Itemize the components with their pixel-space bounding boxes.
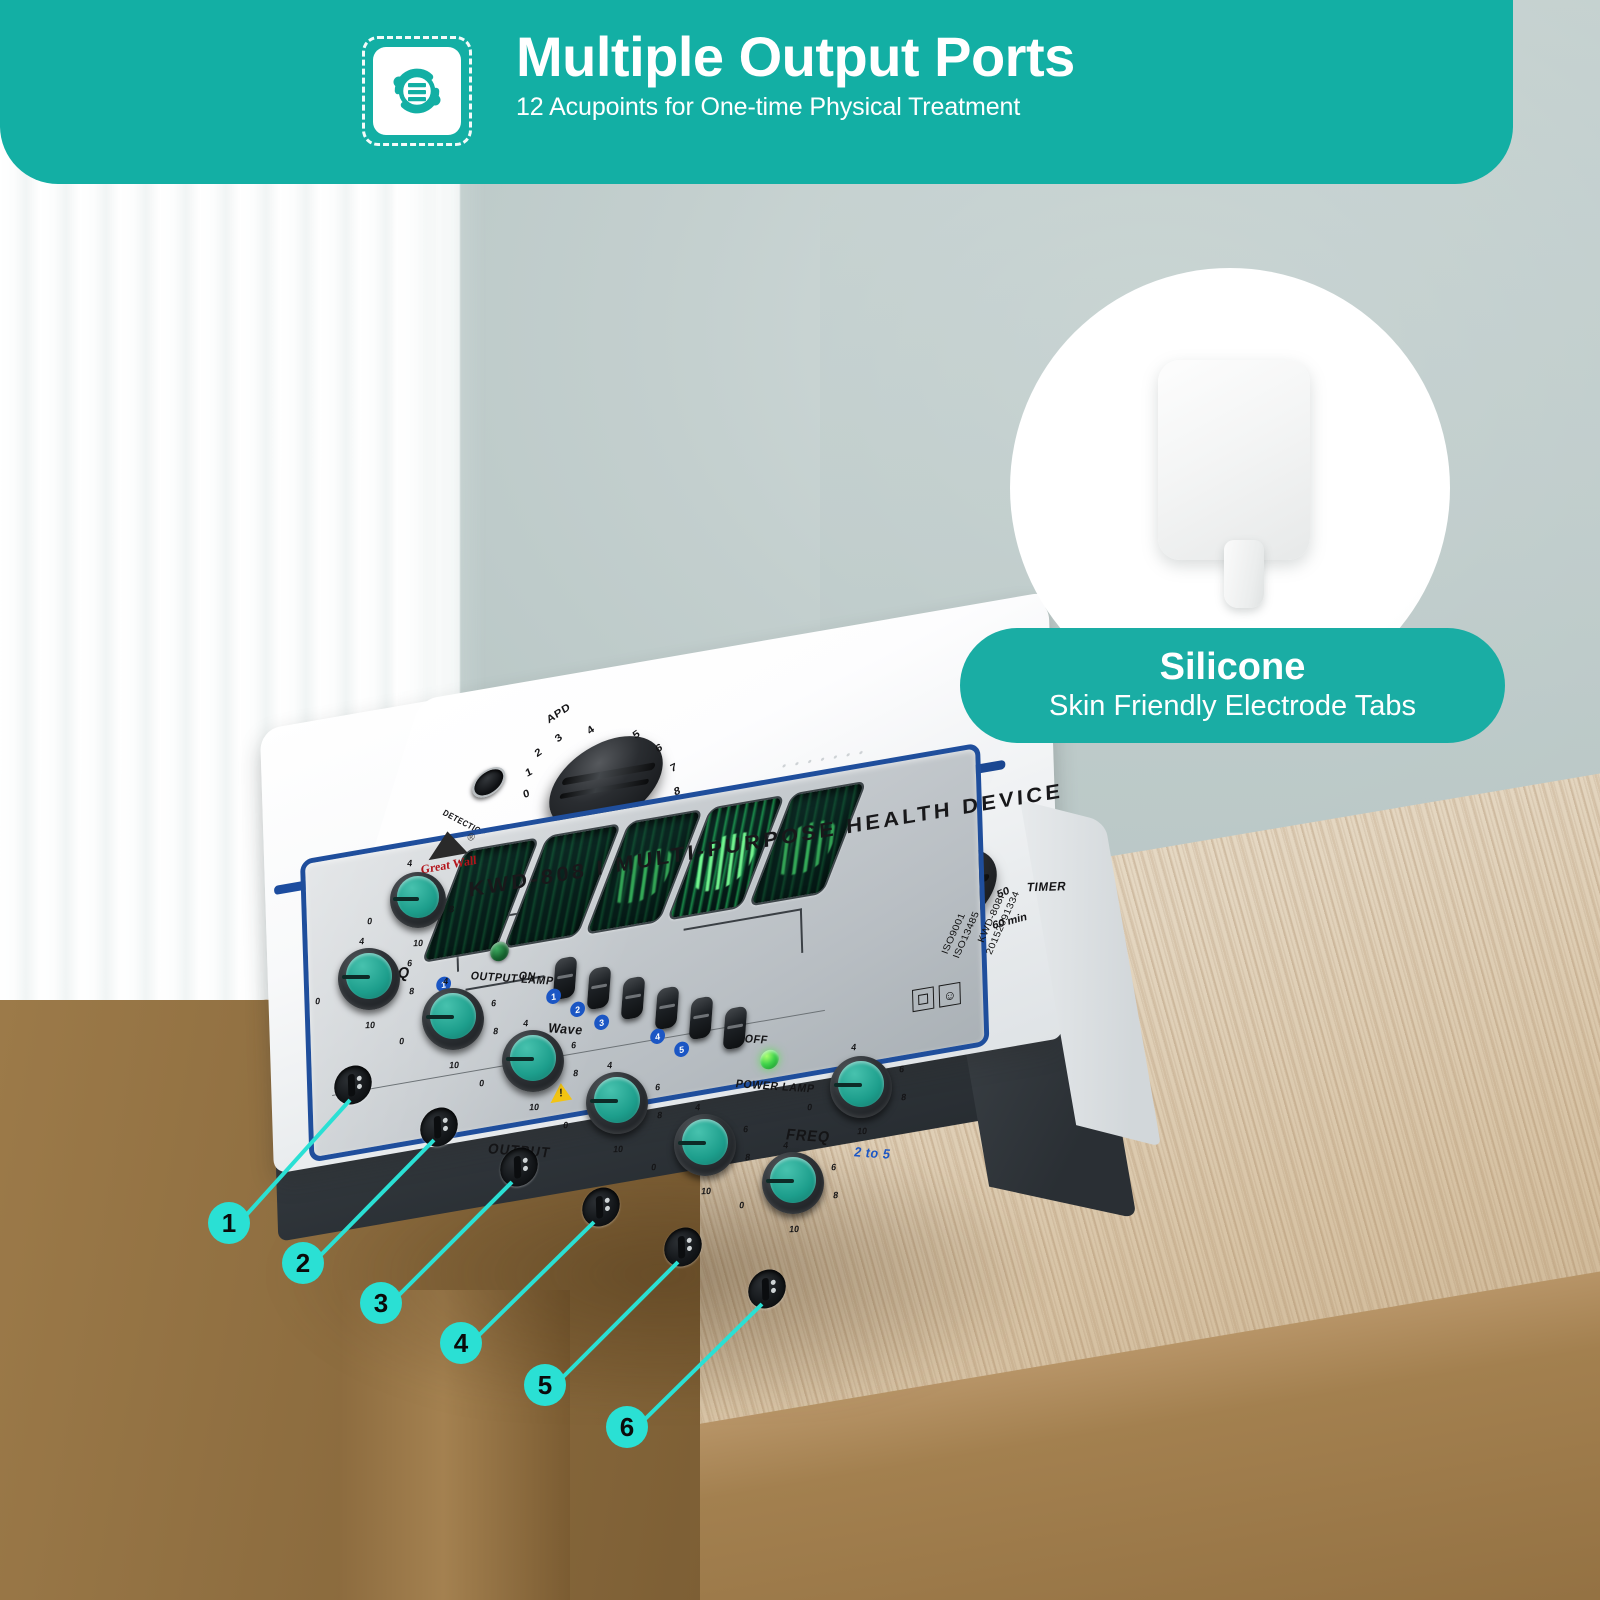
callout-badge-6: 6 (606, 1406, 648, 1448)
silicone-electrode-tab (1224, 540, 1264, 608)
callout-badge-3: 3 (360, 1282, 402, 1324)
intensity-knob-8[interactable] (830, 1056, 892, 1118)
output-ports-icon (373, 47, 461, 135)
intensity-knob-3[interactable] (422, 988, 484, 1050)
intensity-knob-2[interactable] (338, 948, 400, 1010)
silicone-subtitle: Skin Friendly Electrode Tabs (1049, 690, 1416, 723)
silicone-feature-card: Silicone Skin Friendly Electrode Tabs (960, 268, 1505, 743)
header-title: Multiple Output Ports (516, 26, 1075, 89)
callout-badge-5: 5 (524, 1364, 566, 1406)
header-icon-frame (362, 36, 472, 146)
warning-triangle-icon (550, 1081, 572, 1103)
knob1-tick-10: 10 (413, 938, 424, 948)
intensity-knob-1[interactable] (390, 872, 446, 928)
callout-badge-2: 2 (282, 1242, 324, 1284)
freq-right-range: 2 to 5 (853, 1144, 892, 1162)
silicone-electrode-pad (1158, 360, 1310, 560)
freq-right-label: FREQ (784, 1126, 832, 1146)
timer-label: TIMER (1026, 879, 1067, 895)
knob8-tick-10: 10 (857, 1126, 868, 1136)
callout-badge-1: 1 (208, 1202, 250, 1244)
silicone-label-pill: Silicone Skin Friendly Electrode Tabs (960, 628, 1505, 743)
patient-applied-part-icon: ☺ (939, 982, 961, 1008)
knob4-tick-10: 10 (529, 1102, 540, 1112)
header-subtitle: 12 Acupoints for One-time Physical Treat… (516, 93, 1075, 122)
wave-on-label: ON (517, 970, 537, 983)
knob3-tick-10: 10 (449, 1060, 460, 1070)
wave-off-label: OFF (743, 1033, 768, 1047)
photo-scene: DETECTION OUTLET APD 0 1 2 3 4 5 6 7 8 9… (0, 0, 1600, 1600)
wave-label: Wave (547, 1020, 585, 1038)
silicone-title: Silicone (1160, 648, 1306, 688)
knob6-tick-10: 10 (701, 1186, 712, 1196)
registered-mark: ® (467, 832, 475, 844)
intensity-knob-6[interactable] (674, 1114, 736, 1176)
intensity-knob-7[interactable] (762, 1152, 824, 1214)
callout-badge-4: 4 (440, 1322, 482, 1364)
intensity-knob-5[interactable] (586, 1072, 648, 1134)
intensity-knob-4[interactable] (502, 1030, 564, 1092)
knob5-tick-10: 10 (613, 1144, 624, 1154)
class-ii-icon (912, 986, 934, 1012)
header-text-block: Multiple Output Ports 12 Acupoints for O… (516, 26, 1075, 122)
header-banner: Multiple Output Ports 12 Acupoints for O… (0, 0, 1513, 184)
knob2-tick-10: 10 (365, 1020, 376, 1030)
knob7-tick-10: 10 (789, 1224, 800, 1234)
